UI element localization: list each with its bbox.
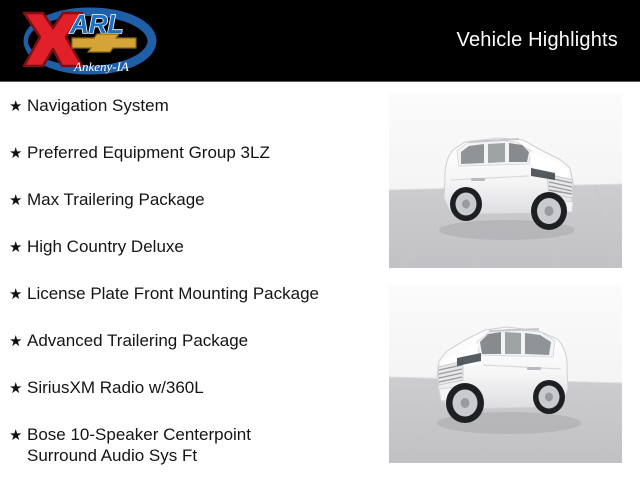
vehicle-highlights-list: ★ Navigation System ★ Preferred Equipmen… [0, 82, 385, 480]
list-item-label: Preferred Equipment Group 3LZ [27, 142, 385, 163]
dealer-logo-graphic: ARL Ankeny-IA [12, 4, 162, 78]
list-item-label: High Country Deluxe [27, 236, 385, 257]
list-item: ★ Advanced Trailering Package [0, 330, 385, 377]
star-icon: ★ [9, 237, 22, 259]
list-item-label: Max Trailering Package [27, 189, 385, 210]
page-header: ARL Ankeny-IA Vehicle Highlights [0, 0, 640, 82]
list-item-label: License Plate Front Mounting Package [27, 283, 385, 304]
list-item: ★ SiriusXM Radio w/360L [0, 377, 385, 424]
star-icon: ★ [9, 143, 22, 165]
list-item: ★ Preferred Equipment Group 3LZ [0, 142, 385, 189]
dealer-location-script: Ankeny-IA [73, 59, 129, 74]
list-item-label: Navigation System [27, 95, 385, 116]
list-item: ★ Navigation System [0, 95, 385, 142]
list-item: ★ Bose 10-Speaker Centerpoint Surround A… [0, 424, 385, 471]
vehicle-photo-front-passenger[interactable] [389, 94, 622, 268]
list-item: ★ License Plate Front Mounting Package [0, 283, 385, 330]
list-item-label: Advanced Trailering Package [27, 330, 385, 351]
star-icon: ★ [9, 190, 22, 212]
star-icon: ★ [9, 425, 22, 447]
star-icon: ★ [9, 284, 22, 306]
page-title: Vehicle Highlights [457, 28, 618, 52]
vehicle-highlights-page: ARL Ankeny-IA Vehicle Highlights ★ Navig… [0, 0, 640, 480]
dealer-logo[interactable]: ARL Ankeny-IA [12, 4, 162, 78]
star-icon: ★ [9, 96, 22, 118]
vehicle-photo-2-graphic [389, 285, 622, 463]
list-item: ★ High Country Deluxe [0, 236, 385, 283]
vehicle-photo-1-graphic [389, 94, 622, 268]
list-item-label: Bose 10-Speaker Centerpoint Surround Aud… [27, 424, 385, 466]
vehicle-photo-front-driver[interactable] [389, 285, 622, 463]
star-icon: ★ [9, 331, 22, 353]
svg-text:Ankeny-IA: Ankeny-IA [73, 59, 129, 74]
list-item-label: SiriusXM Radio w/360L [27, 377, 385, 398]
star-icon: ★ [9, 378, 22, 400]
list-item: ★ Max Trailering Package [0, 189, 385, 236]
